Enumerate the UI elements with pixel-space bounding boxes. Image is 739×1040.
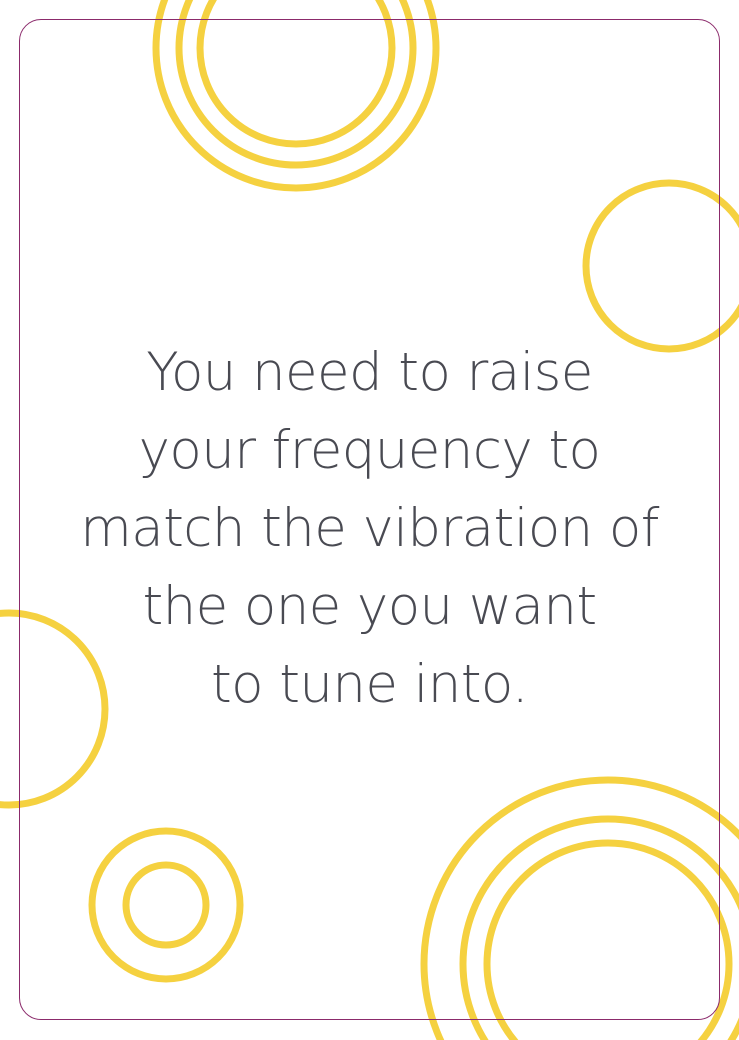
ring-top-left-inner [200, 0, 392, 144]
ring-bottom-right-inner [487, 843, 729, 1040]
quote-line-2: your frequency to [50, 412, 690, 490]
ring-top-left-outer [156, 0, 436, 188]
ring-bottom-right-outer [424, 780, 739, 1040]
ring-bottom-right-middle [463, 819, 739, 1040]
quote-line-3: match the vibration of [50, 490, 690, 568]
ring-right [586, 183, 739, 349]
ring-bottom-left-outer [92, 831, 240, 979]
ring-bottom-left-inner [126, 865, 206, 945]
quote-line-4: the one you want [50, 568, 690, 646]
ring-group-right [586, 183, 739, 349]
quote-card: You need to raise your frequency to matc… [0, 0, 739, 1040]
ring-group-top-left [156, 0, 436, 188]
quote-line-1: You need to raise [50, 334, 690, 412]
ring-group-bottom-left [92, 831, 240, 979]
quote-line-5: to tune into. [50, 646, 690, 724]
ring-top-left-middle [179, 0, 413, 165]
ring-group-bottom-right [424, 780, 739, 1040]
quote-text: You need to raise your frequency to matc… [50, 334, 690, 724]
